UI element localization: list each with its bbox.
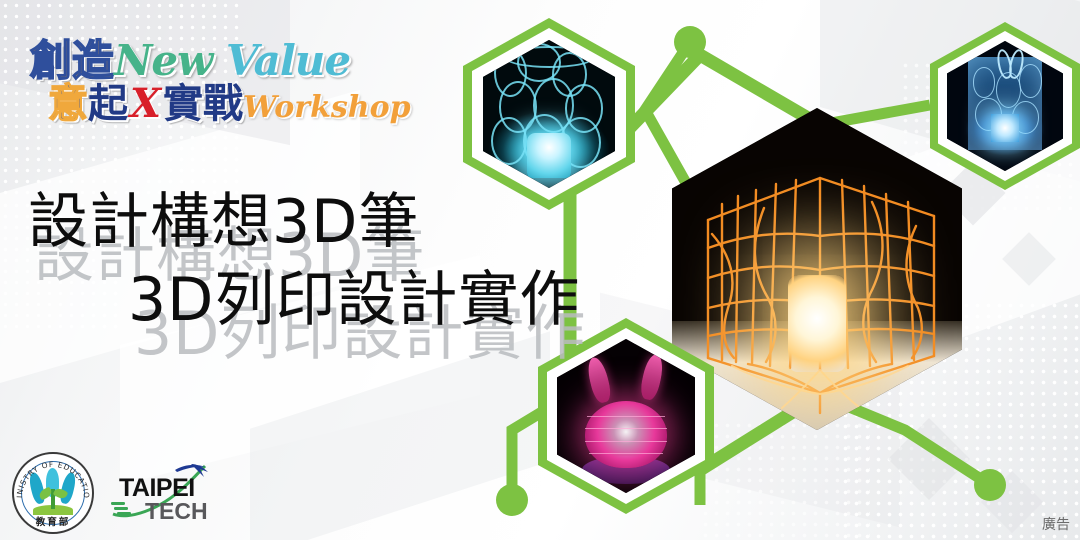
gallery-hex-orange[interactable] <box>672 108 962 430</box>
ministry-arc-label: MINISTRY OF EDUCATION <box>12 452 91 499</box>
gallery-hex-cyan[interactable] <box>463 18 635 210</box>
taipei-tech-bottom-label: TECH <box>145 498 208 525</box>
campaign-logo-line1: 創造New Value <box>30 40 350 82</box>
logo-text-workshop: Workshop <box>243 90 411 125</box>
poster-title: 設計構想3D筆 3D列印設計實作 設計構想3D筆 3D列印設計實作 <box>0 192 620 342</box>
logo-text-yi: 意 <box>48 81 88 127</box>
advertisement-label: 廣告 <box>1042 514 1070 534</box>
logo-text-chuangzao: 創造 <box>30 36 114 85</box>
campaign-logo-line2: 意起X實戰Workshop <box>48 84 411 124</box>
taipei-tech-logo: TAIPEI TECH <box>105 458 220 530</box>
ministry-of-education-logo: MINISTRY OF EDUCATION 教育部 <box>12 452 94 534</box>
ministry-chinese-label: 教育部 <box>12 514 94 528</box>
logo-text-x: X <box>128 80 163 127</box>
svg-text:MINISTRY OF EDUCATION: MINISTRY OF EDUCATION <box>12 452 91 499</box>
logo-text-value: Value <box>226 36 350 85</box>
hex-photo-orange <box>672 108 962 430</box>
title-line2: 3D列印設計實作 <box>128 270 580 330</box>
logo-text-new: New <box>114 36 226 85</box>
logo-text-qi: 起 <box>88 81 128 127</box>
campaign-logo: 創造New Value 意起X實戰Workshop <box>30 40 420 145</box>
poster-canvas: 創造New Value 意起X實戰Workshop 設計構想3D筆 3D列印設計… <box>0 0 1080 540</box>
logo-text-shizhan: 實戰 <box>163 81 243 127</box>
title-line1: 設計構想3D筆 <box>28 192 419 252</box>
